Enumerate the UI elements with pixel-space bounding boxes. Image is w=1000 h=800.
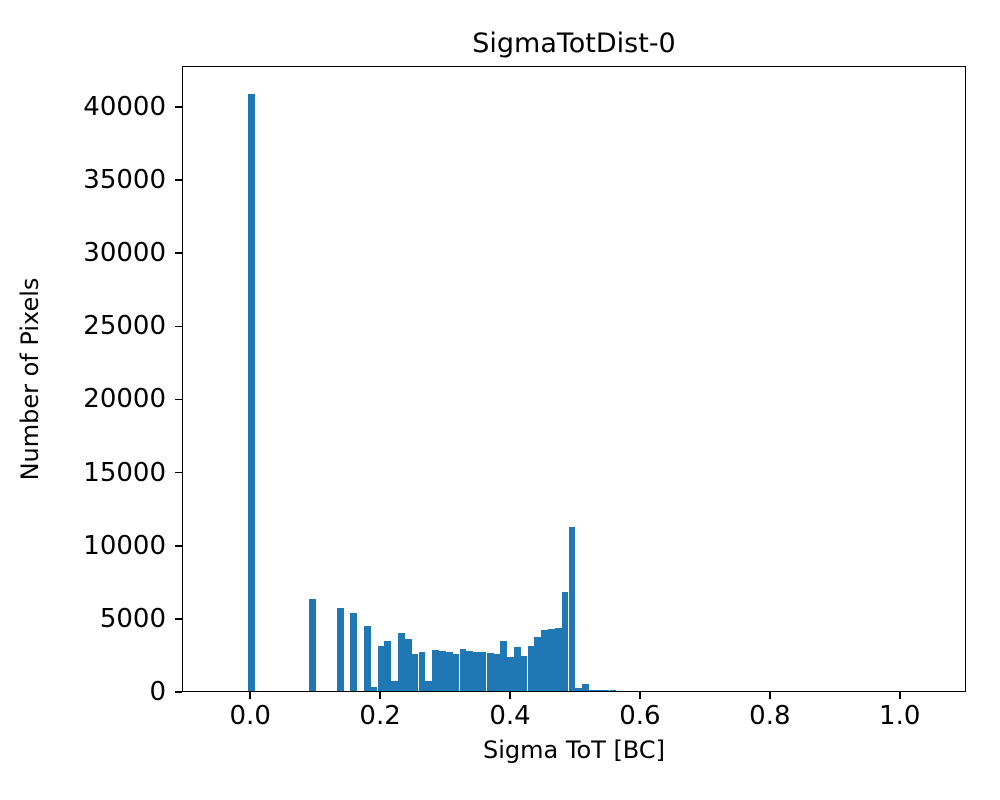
- x-tick-label: 0.4: [489, 701, 530, 731]
- histogram-bars: [183, 67, 965, 691]
- y-tick-label: 0: [0, 677, 166, 707]
- y-tick-mark: [175, 252, 182, 254]
- x-tick-mark: [249, 692, 251, 699]
- histogram-bar: [493, 654, 500, 691]
- y-axis-label: Number of Pixels: [16, 278, 44, 481]
- x-tick-mark: [899, 692, 901, 699]
- histogram-bar: [562, 592, 569, 691]
- plot-area: [182, 66, 966, 692]
- histogram-bar: [411, 654, 418, 691]
- x-tick-label: 0.0: [230, 701, 271, 731]
- histogram-bar: [575, 688, 582, 691]
- y-tick-mark: [175, 618, 182, 620]
- histogram-bar: [569, 527, 576, 691]
- x-tick-label: 0.8: [749, 701, 790, 731]
- y-tick-mark: [175, 399, 182, 401]
- histogram-bar: [507, 657, 514, 691]
- y-tick-label: 40000: [0, 92, 166, 122]
- histogram-bar: [248, 94, 255, 691]
- x-tick-mark: [639, 692, 641, 699]
- histogram-bar: [452, 654, 459, 691]
- histogram-bar: [384, 641, 391, 691]
- histogram-bar: [466, 651, 473, 691]
- x-tick-label: 0.6: [619, 701, 660, 731]
- y-tick-label: 35000: [0, 165, 166, 195]
- histogram-bar: [589, 690, 596, 691]
- histogram-bar: [425, 681, 432, 691]
- y-tick-mark: [175, 326, 182, 328]
- y-tick-mark: [175, 472, 182, 474]
- histogram-bar: [364, 626, 371, 691]
- x-tick-label: 0.2: [359, 701, 400, 731]
- histogram-bar: [439, 651, 446, 691]
- y-tick-mark: [175, 179, 182, 181]
- histogram-bar: [480, 652, 487, 691]
- y-tick-mark: [175, 106, 182, 108]
- histogram-bar: [371, 687, 378, 691]
- y-tick-label: 30000: [0, 238, 166, 268]
- histogram-figure: SigmaTotDist-0 0.00.20.40.60.81.0 050001…: [0, 0, 1000, 800]
- x-tick-mark: [379, 692, 381, 699]
- y-tick-label: 5000: [0, 604, 166, 634]
- x-tick-mark: [769, 692, 771, 699]
- histogram-bar: [534, 637, 541, 691]
- x-axis-label: Sigma ToT [BC]: [182, 736, 966, 764]
- histogram-bar: [337, 608, 344, 691]
- page-title: SigmaTotDist-0: [182, 28, 966, 60]
- y-tick-label: 10000: [0, 531, 166, 561]
- histogram-bar: [350, 613, 357, 691]
- x-tick-mark: [509, 692, 511, 699]
- histogram-bar: [309, 599, 316, 691]
- histogram-bar: [602, 690, 609, 691]
- histogram-bar: [548, 629, 555, 691]
- x-tick-label: 1.0: [879, 701, 920, 731]
- histogram-bar: [398, 633, 405, 692]
- y-tick-mark: [175, 545, 182, 547]
- y-tick-mark: [175, 691, 182, 693]
- histogram-bar: [521, 656, 528, 691]
